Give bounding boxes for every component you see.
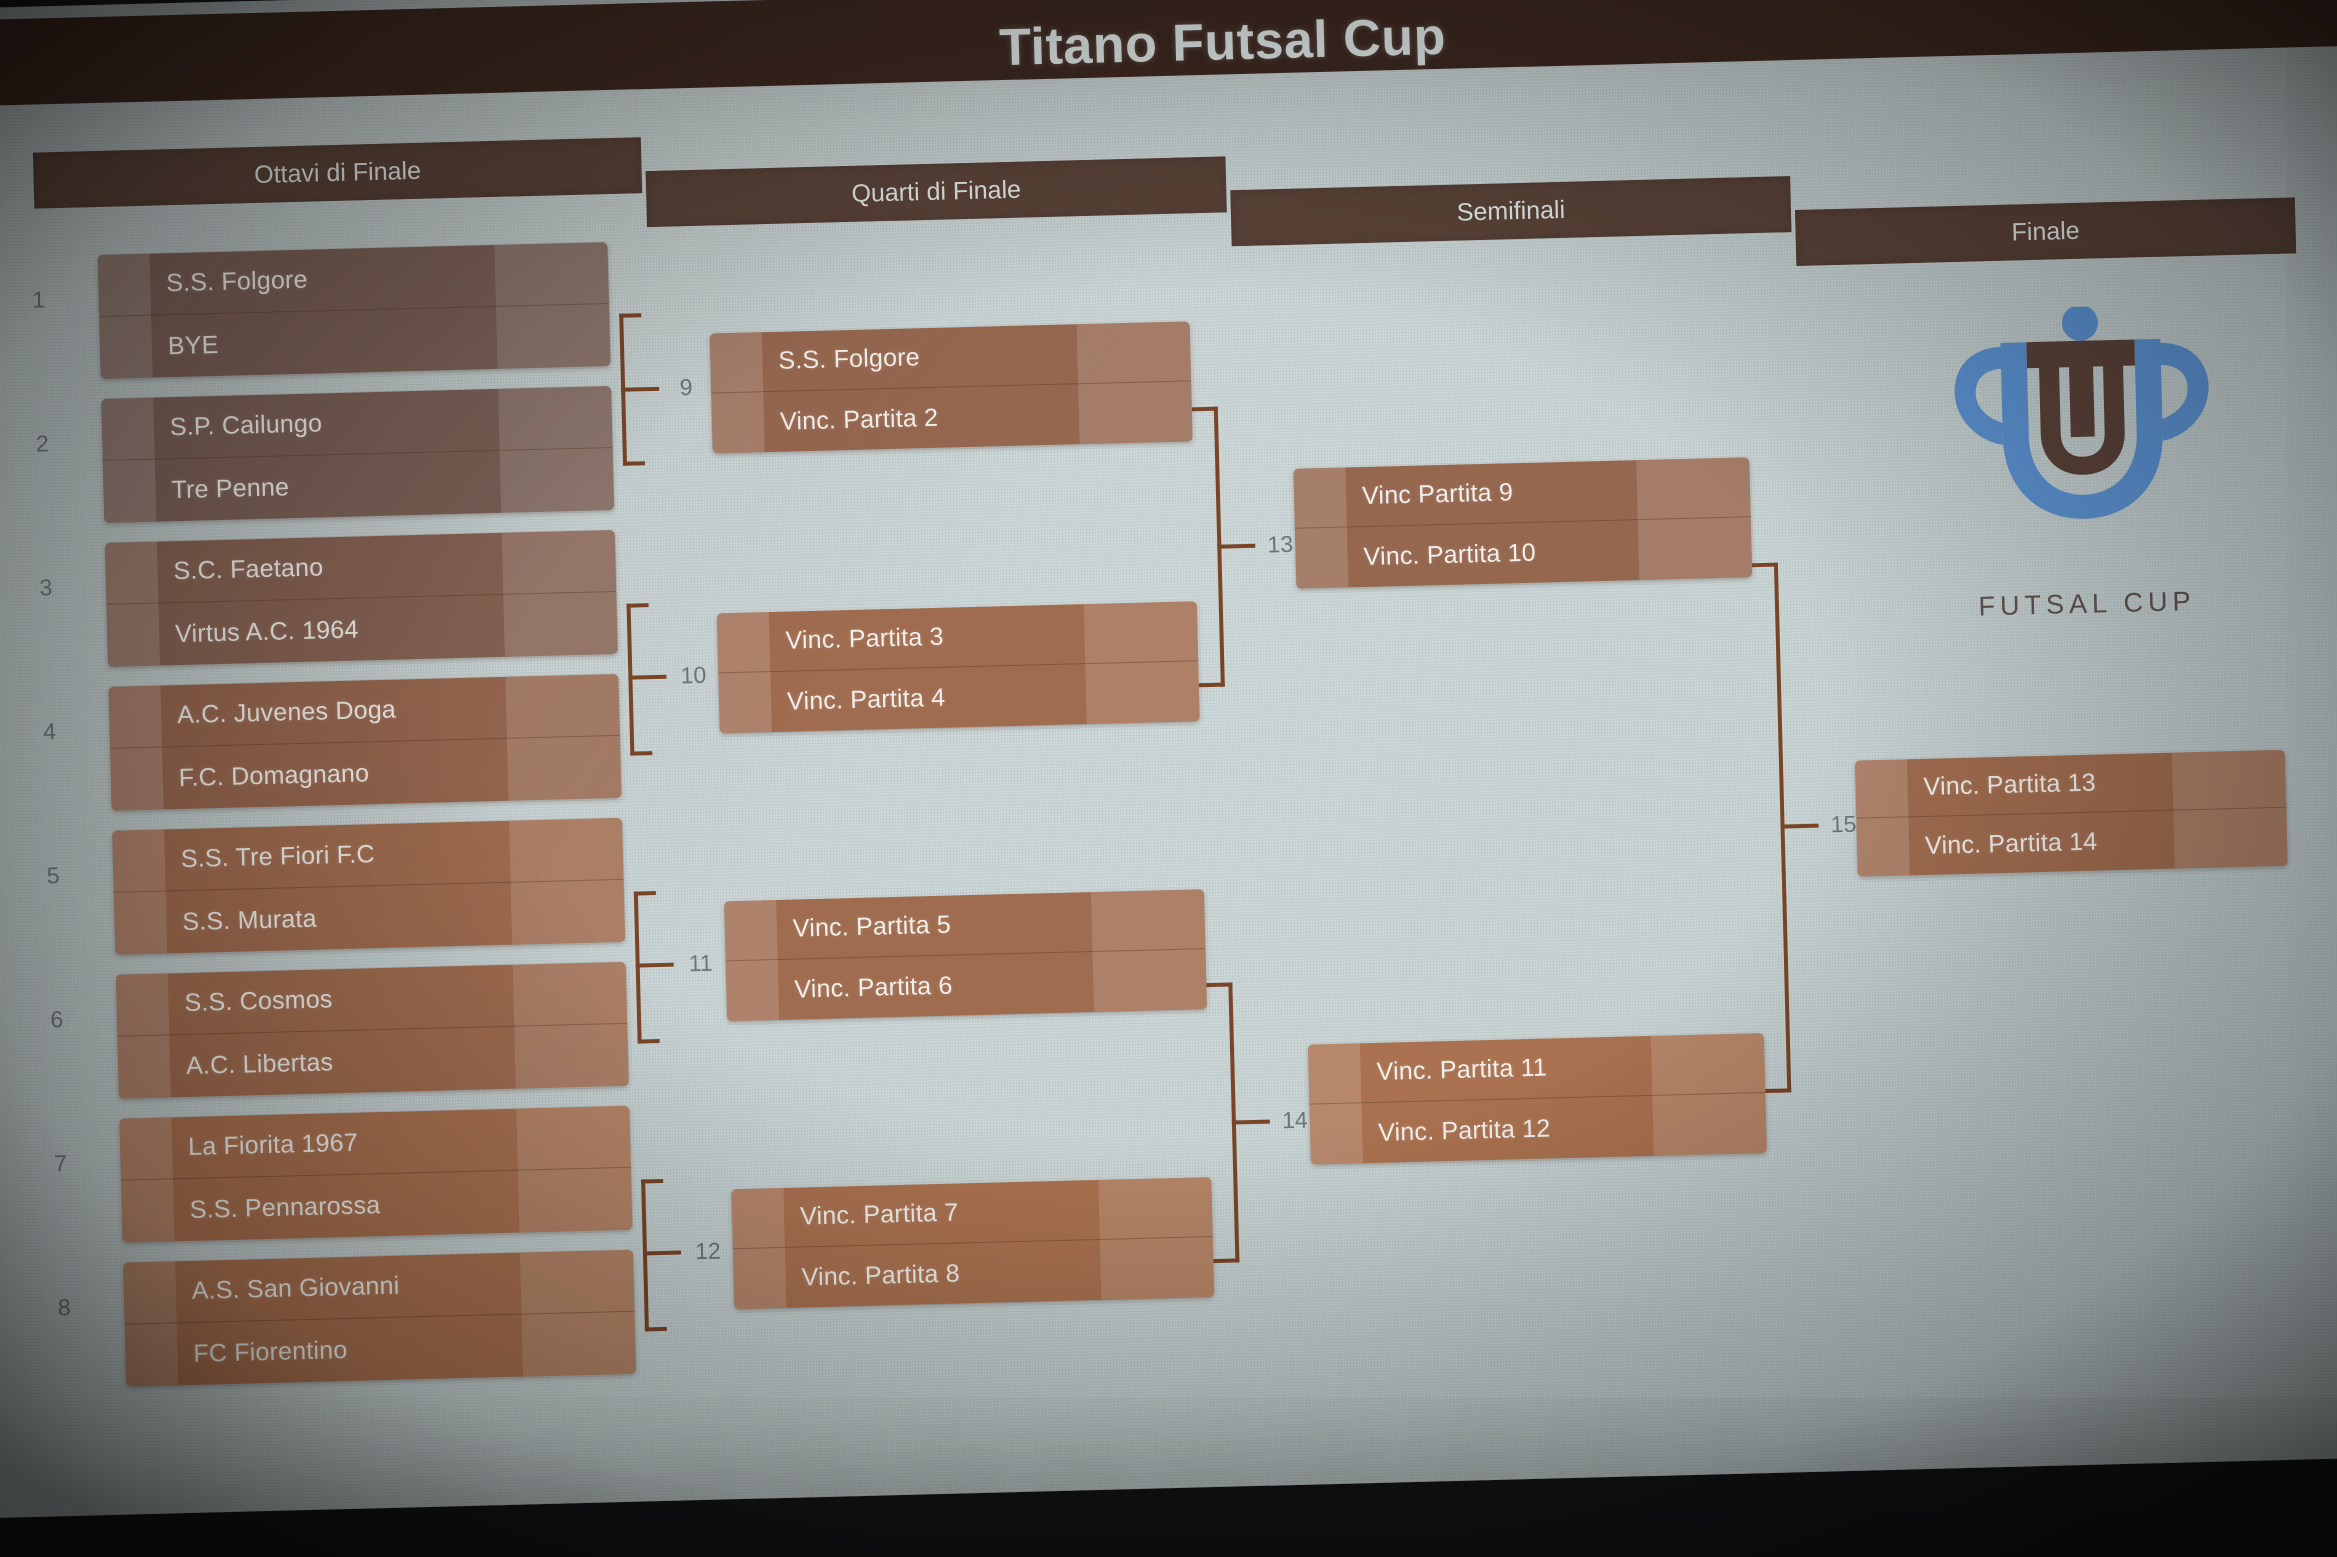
connector-14-top: [1206, 983, 1232, 988]
seed-cell: [106, 604, 160, 667]
score-cell-2[interactable]: [1133, 381, 1192, 442]
score-cell-2[interactable]: [551, 304, 611, 367]
team-name: S.S. Pennarossa: [173, 1171, 519, 1242]
team-name: S.S. Murata: [166, 883, 512, 954]
team-name: Vinc. Partita 14: [1908, 811, 2174, 876]
score-cell-1[interactable]: [1652, 1095, 1709, 1156]
seed-cell: [710, 332, 764, 393]
futsal-cup-logo: [1930, 303, 2236, 541]
seed-cell: [711, 392, 765, 453]
seed-cell: [717, 612, 771, 673]
match-row-bottom[interactable]: Vinc. Partita 8: [733, 1237, 1214, 1309]
match-number-11: 11: [677, 949, 724, 977]
team-name: S.S. Folgore: [150, 245, 496, 316]
match-row-bottom[interactable]: Vinc. Partita 2: [711, 381, 1192, 453]
seed-cell: [101, 398, 155, 461]
team-name: A.C. Juvenes Doga: [160, 677, 506, 748]
seed-cell: [731, 1188, 785, 1249]
score-cell-2[interactable]: [560, 674, 620, 737]
connector-13-top: [1192, 407, 1218, 412]
seed-cell: [108, 686, 162, 749]
score-cell-1[interactable]: [514, 1025, 571, 1088]
match-number-1: 1: [18, 286, 59, 314]
score-cell-1[interactable]: [1651, 1035, 1708, 1096]
team-name: Virtus A.C. 1964: [158, 595, 504, 666]
seed-cell: [110, 748, 164, 811]
trophy-icon: [1930, 303, 2236, 541]
team-name: Vinc. Partita 5: [776, 892, 1092, 960]
score-cell-1[interactable]: [516, 1107, 573, 1170]
seed-cell: [114, 891, 168, 954]
score-cell-2[interactable]: [566, 880, 626, 943]
score-cell-1[interactable]: [513, 963, 570, 1026]
score-cell-2[interactable]: [1155, 1237, 1214, 1298]
score-cell-1[interactable]: [1084, 603, 1141, 664]
score-cell-2[interactable]: [571, 1106, 631, 1169]
score-cell-2[interactable]: [573, 1168, 633, 1231]
score-cell-2[interactable]: [1707, 1093, 1766, 1154]
score-cell-1[interactable]: [494, 244, 551, 307]
connector-10-stem: [628, 675, 666, 680]
match-row-top[interactable]: Vinc. Partita 13: [1855, 750, 2286, 819]
match-number-9: 9: [663, 374, 710, 402]
match-card-12[interactable]: Vinc. Partita 7 Vinc. Partita 8: [731, 1177, 1214, 1309]
seed-cell: [98, 254, 152, 317]
match-row-bottom[interactable]: S.S. Murata: [114, 880, 625, 955]
team-name: Vinc. Partita 13: [1907, 753, 2173, 818]
seed-cell: [116, 973, 170, 1036]
projection-photo: Titano Futsal Cup Ottavi di Finale Quart…: [0, 0, 2337, 1557]
connector-15-stem: [1781, 824, 1819, 829]
match-number-8: 8: [44, 1294, 85, 1322]
score-cell-2[interactable]: [1140, 661, 1199, 722]
score-cell-2[interactable]: [568, 962, 628, 1025]
seed-cell: [1856, 817, 1909, 876]
score-cell-2[interactable]: [549, 242, 609, 305]
seed-cell: [125, 1323, 179, 1386]
connector-11-bottom: [638, 1039, 660, 1044]
score-cell-2[interactable]: [1691, 457, 1750, 518]
score-cell-2[interactable]: [569, 1024, 629, 1087]
score-cell-2[interactable]: [1148, 949, 1207, 1010]
match-number-12: 12: [685, 1237, 732, 1265]
score-cell-1[interactable]: [1638, 519, 1695, 580]
connector-9-bottom: [623, 461, 645, 466]
score-cell-2[interactable]: [564, 818, 624, 881]
score-cell-1[interactable]: [518, 1169, 575, 1232]
match-row-bottom[interactable]: Vinc. Partita 10: [1295, 517, 1752, 589]
team-name: Tre Penne: [155, 451, 501, 522]
match-card-1[interactable]: S.S. Folgore BYE: [98, 242, 611, 379]
match-card-3[interactable]: S.C. Faetano Virtus A.C. 1964: [105, 530, 618, 667]
seed-cell: [1293, 467, 1347, 528]
connector-10-top: [627, 603, 649, 608]
team-name: BYE: [151, 307, 497, 378]
score-cell-2[interactable]: [1132, 321, 1191, 382]
connector-14-stem: [1232, 1120, 1270, 1125]
seed-cell: [1295, 527, 1349, 588]
team-name: Vinc. Partita 12: [1361, 1096, 1653, 1163]
match-card-7[interactable]: La Fiorita 1967 S.S. Pennarossa: [119, 1106, 632, 1243]
seed-cell: [119, 1117, 173, 1180]
score-cell-1[interactable]: [1085, 663, 1142, 724]
score-cell-2[interactable]: [576, 1312, 636, 1375]
seed-cell: [99, 316, 153, 379]
match-number-6: 6: [37, 1006, 78, 1034]
connector-12-stem: [643, 1251, 681, 1256]
match-card-8[interactable]: A.S. San Giovanni FC Fiorentino: [123, 1250, 636, 1387]
match-card-11[interactable]: Vinc. Partita 5 Vinc. Partita 6: [724, 889, 1207, 1021]
connector-9-top: [619, 313, 641, 318]
score-cell-1[interactable]: [2172, 751, 2228, 810]
team-name: S.S. Cosmos: [168, 965, 514, 1036]
team-name: Vinc. Partita 4: [770, 664, 1086, 732]
seed-cell: [726, 960, 780, 1021]
team-name: Vinc. Partita 11: [1360, 1036, 1652, 1103]
score-cell-2[interactable]: [1706, 1033, 1765, 1094]
round-header-ottavi: Ottavi di Finale: [33, 137, 642, 208]
match-card-13[interactable]: Vinc Partita 9 Vinc. Partita 10: [1293, 457, 1752, 589]
team-name: Vinc. Partita 6: [778, 952, 1094, 1020]
connector-13-bottom: [1199, 683, 1225, 688]
logo-caption: FUTSAL CUP: [1927, 585, 2248, 624]
team-name: Vinc. Partita 7: [783, 1180, 1099, 1248]
score-cell-2[interactable]: [558, 592, 618, 655]
match-row-bottom[interactable]: S.S. Pennarossa: [121, 1168, 632, 1243]
score-cell-2[interactable]: [1693, 517, 1752, 578]
round-header-semifinali: Semifinali: [1230, 176, 1791, 246]
connector-15-top: [1752, 563, 1778, 568]
score-cell-1[interactable]: [522, 1313, 579, 1376]
team-name: F.C. Domagnano: [162, 739, 508, 810]
score-cell-1[interactable]: [496, 306, 553, 369]
team-name: Vinc. Partita 8: [785, 1240, 1101, 1308]
connector-11-stem: [636, 963, 674, 968]
score-cell-1[interactable]: [498, 388, 555, 451]
score-cell-2[interactable]: [2227, 750, 2286, 809]
team-name: S.S. Tre Fiori F.C: [164, 821, 510, 892]
score-cell-2[interactable]: [562, 736, 622, 799]
match-row-bottom[interactable]: Virtus A.C. 1964: [106, 592, 617, 667]
team-name: La Fiorita 1967: [171, 1109, 517, 1180]
team-name: Vinc Partita 9: [1345, 460, 1637, 527]
match-card-5[interactable]: S.S. Tre Fiori F.C S.S. Murata: [112, 818, 625, 955]
match-card-9[interactable]: S.S. Folgore Vinc. Partita 2: [710, 321, 1193, 453]
connector-13-stem: [1217, 544, 1255, 549]
match-number-7: 7: [40, 1150, 81, 1178]
match-card-6[interactable]: S.S. Cosmos A.C. Libertas: [116, 962, 629, 1099]
connector-12-top: [641, 1179, 663, 1184]
seed-cell: [121, 1179, 175, 1242]
score-cell-1[interactable]: [505, 675, 562, 738]
team-name: Vinc. Partita 3: [769, 604, 1085, 672]
connector-9-stem: [621, 387, 659, 392]
bracket-canvas: Titano Futsal Cup Ottavi di Finale Quart…: [0, 0, 2337, 1557]
score-cell-1[interactable]: [520, 1251, 577, 1314]
score-cell-1[interactable]: [2173, 809, 2229, 868]
match-row-bottom[interactable]: Vinc. Partita 14: [1856, 808, 2287, 877]
score-cell-1[interactable]: [1093, 951, 1150, 1012]
match-row-bottom[interactable]: Vinc. Partita 12: [1309, 1093, 1766, 1165]
seed-cell: [1308, 1043, 1362, 1104]
score-cell-2[interactable]: [1139, 601, 1198, 662]
connector-14-bottom: [1213, 1258, 1239, 1263]
connector-15-bottom: [1765, 1088, 1791, 1093]
match-number-3: 3: [26, 574, 67, 602]
score-cell-1[interactable]: [507, 737, 564, 800]
round-header-quarti: Quarti di Finale: [646, 156, 1227, 227]
match-row-bottom[interactable]: Vinc. Partita 6: [726, 949, 1207, 1021]
score-cell-1[interactable]: [502, 531, 559, 594]
team-name: S.S. Folgore: [762, 324, 1078, 392]
team-name: S.P. Cailungo: [153, 389, 499, 460]
seed-cell: [733, 1248, 787, 1309]
score-cell-1[interactable]: [1098, 1179, 1155, 1240]
seed-cell: [724, 900, 778, 961]
score-cell-1[interactable]: [1077, 323, 1134, 384]
connector-10-bottom: [630, 751, 652, 756]
match-card-15[interactable]: Vinc. Partita 13 Vinc. Partita 14: [1855, 750, 2288, 877]
seed-cell: [117, 1035, 171, 1098]
score-cell-2[interactable]: [557, 530, 617, 593]
score-cell-2[interactable]: [575, 1250, 635, 1313]
match-row-bottom[interactable]: FC Fiorentino: [125, 1312, 636, 1387]
score-cell-1[interactable]: [1636, 459, 1693, 520]
team-name: S.C. Faetano: [157, 533, 503, 604]
seed-cell: [103, 460, 157, 523]
match-card-4[interactable]: A.C. Juvenes Doga F.C. Domagnano: [108, 674, 621, 811]
match-row-bottom[interactable]: A.C. Libertas: [117, 1024, 628, 1099]
score-cell-2[interactable]: [2228, 808, 2287, 867]
score-cell-2[interactable]: [1146, 889, 1205, 950]
seed-cell: [1855, 759, 1908, 818]
round-header-finale: Finale: [1795, 197, 2296, 266]
score-cell-1[interactable]: [509, 819, 566, 882]
projection-screen: Titano Futsal Cup Ottavi di Finale Quart…: [0, 0, 2337, 1518]
seed-cell: [112, 829, 166, 892]
match-row-bottom[interactable]: Vinc. Partita 4: [718, 661, 1199, 733]
team-name: A.S. San Giovanni: [175, 1253, 521, 1324]
score-cell-1[interactable]: [1100, 1239, 1157, 1300]
match-row-bottom[interactable]: BYE: [99, 304, 610, 379]
score-cell-1[interactable]: [500, 449, 557, 512]
match-card-2[interactable]: S.P. Cailungo Tre Penne: [101, 386, 614, 523]
score-cell-1[interactable]: [503, 593, 560, 656]
team-name: Vinc. Partita 10: [1347, 520, 1639, 587]
team-name: FC Fiorentino: [177, 1315, 523, 1386]
score-cell-1[interactable]: [1078, 383, 1135, 444]
connector-12-bottom: [645, 1327, 667, 1332]
match-card-10[interactable]: Vinc. Partita 3 Vinc. Partita 4: [717, 601, 1200, 733]
score-cell-1[interactable]: [511, 881, 568, 944]
score-cell-1[interactable]: [1091, 891, 1148, 952]
seed-cell: [105, 542, 159, 605]
team-name: Vinc. Partita 2: [763, 384, 1079, 452]
seed-cell: [718, 672, 772, 733]
score-cell-2[interactable]: [555, 448, 615, 511]
match-card-14[interactable]: Vinc. Partita 11 Vinc. Partita 12: [1308, 1033, 1767, 1165]
match-row-bottom[interactable]: F.C. Domagnano: [110, 736, 621, 811]
match-row-bottom[interactable]: Tre Penne: [103, 448, 614, 523]
match-number-2: 2: [22, 430, 63, 458]
team-name: A.C. Libertas: [169, 1027, 515, 1098]
match-number-5: 5: [33, 862, 74, 890]
connector-11-top: [634, 891, 656, 896]
seed-cell: [1309, 1103, 1363, 1164]
seed-cell: [123, 1261, 177, 1324]
match-number-10: 10: [670, 661, 717, 689]
score-cell-2[interactable]: [553, 386, 613, 449]
score-cell-2[interactable]: [1153, 1177, 1212, 1238]
match-number-4: 4: [29, 718, 70, 746]
